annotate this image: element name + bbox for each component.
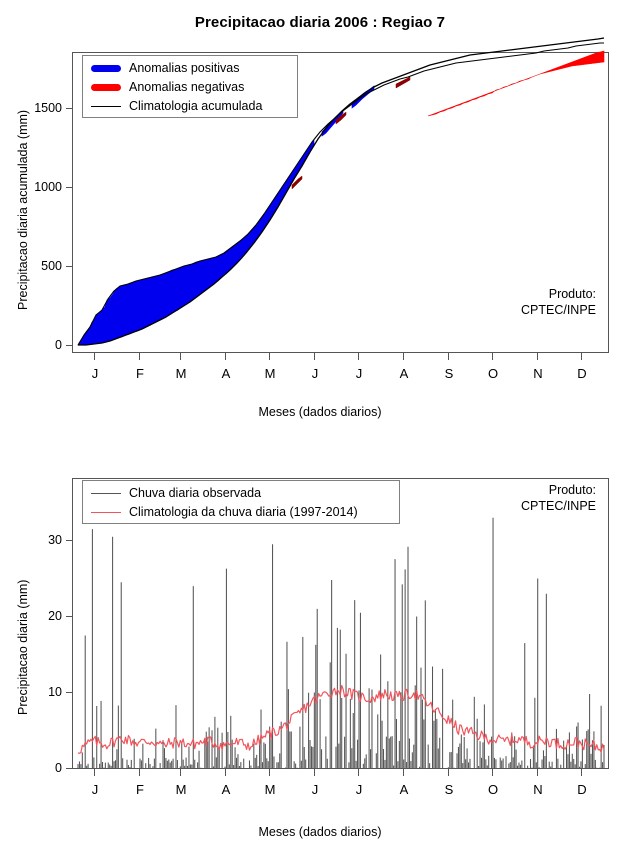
x-axis-title-top: Meses (dados diarios)	[0, 405, 640, 419]
x-tick-bottom-feb: F	[129, 782, 151, 797]
produto-line1-top: Produto:	[440, 286, 596, 302]
produto-line1-bottom: Produto:	[440, 482, 596, 498]
x-tick-bottom-jul: J	[348, 782, 370, 797]
legend-label-positive: Anomalias positivas	[129, 59, 239, 78]
chart-page: Precipitacao diaria 2006 : Regiao 7	[0, 0, 640, 850]
x-tick-bottom-may: M	[259, 782, 281, 797]
legend-item-negative-anomaly: Anomalias negativas	[83, 78, 297, 97]
y-axis-title-bottom: Precipitacao diaria (mm)	[16, 580, 30, 715]
positive-anomaly-area	[78, 140, 314, 345]
x-tick-top-jun: J	[304, 366, 326, 381]
legend-item-positive-anomaly: Anomalias positivas	[83, 59, 297, 78]
legend-item-climatology-accumulated: Climatologia acumulada	[83, 97, 297, 116]
x-tick-bottom-sep: S	[438, 782, 460, 797]
legend-label-observed-daily: Chuva diaria observada	[129, 484, 261, 503]
x-tick-top-jan: J	[84, 366, 106, 381]
y-axis-ticks-bottom	[66, 541, 72, 769]
x-tick-top-aug: A	[393, 366, 415, 381]
red-bar-icon	[83, 84, 129, 91]
y-axis-title-top: Precipitacao diaria acumulada (mm)	[16, 110, 30, 310]
black-line-icon	[83, 106, 129, 107]
x-tick-top-oct: O	[482, 366, 504, 381]
x-tick-top-sep: S	[438, 366, 460, 381]
x-tick-bottom-nov: N	[527, 782, 549, 797]
daily-precipitation-panel: Chuva diaria observada Climatologia da c…	[0, 430, 640, 850]
produto-annotation-top: Produto: CPTEC/INPE	[440, 286, 596, 318]
red-line-icon	[83, 512, 129, 513]
x-axis-title-bottom: Meses (dados diarios)	[0, 825, 640, 839]
x-tick-top-nov: N	[527, 366, 549, 381]
x-tick-top-jul: J	[348, 366, 370, 381]
legend-accumulated: Anomalias positivas Anomalias negativas …	[82, 55, 298, 118]
x-tick-bottom-dec: D	[571, 782, 593, 797]
x-tick-top-feb: F	[129, 366, 151, 381]
legend-label-negative: Anomalias negativas	[129, 78, 244, 97]
x-tick-top-apr: A	[215, 366, 237, 381]
x-tick-top-may: M	[259, 366, 281, 381]
x-axis-ticks-bottom	[95, 769, 582, 776]
x-axis-ticks-top	[95, 353, 582, 360]
legend-label-climatology-daily: Climatologia da chuva diaria (1997-2014)	[129, 503, 358, 522]
negative-anomaly-area	[428, 51, 604, 116]
legend-item-observed-daily: Chuva diaria observada	[83, 484, 399, 503]
produto-line2-top: CPTEC/INPE	[440, 302, 596, 318]
produto-line2-bottom: CPTEC/INPE	[440, 498, 596, 514]
x-tick-top-mar: M	[170, 366, 192, 381]
observed-daily-bars	[78, 518, 604, 769]
y-axis-ticks-top	[66, 109, 72, 346]
produto-annotation-bottom: Produto: CPTEC/INPE	[440, 482, 596, 514]
x-tick-bottom-jan: J	[84, 782, 106, 797]
accumulated-precipitation-panel: Anomalias positivas Anomalias negativas …	[0, 0, 640, 430]
blue-bar-icon	[83, 65, 129, 72]
x-tick-bottom-jun: J	[304, 782, 326, 797]
x-tick-bottom-mar: M	[170, 782, 192, 797]
legend-item-climatology-daily: Climatologia da chuva diaria (1997-2014)	[83, 503, 399, 522]
legend-label-climatology: Climatologia acumulada	[129, 97, 262, 116]
x-tick-bottom-apr: A	[215, 782, 237, 797]
y-tick-bottom-0: 0	[18, 761, 62, 775]
x-tick-bottom-oct: O	[482, 782, 504, 797]
y-tick-bottom-30: 30	[18, 533, 62, 547]
x-tick-bottom-aug: A	[393, 782, 415, 797]
y-tick-top-0: 0	[18, 338, 62, 352]
x-tick-top-dec: D	[571, 366, 593, 381]
legend-daily: Chuva diaria observada Climatologia da c…	[82, 480, 400, 524]
gray-line-icon	[83, 493, 129, 494]
